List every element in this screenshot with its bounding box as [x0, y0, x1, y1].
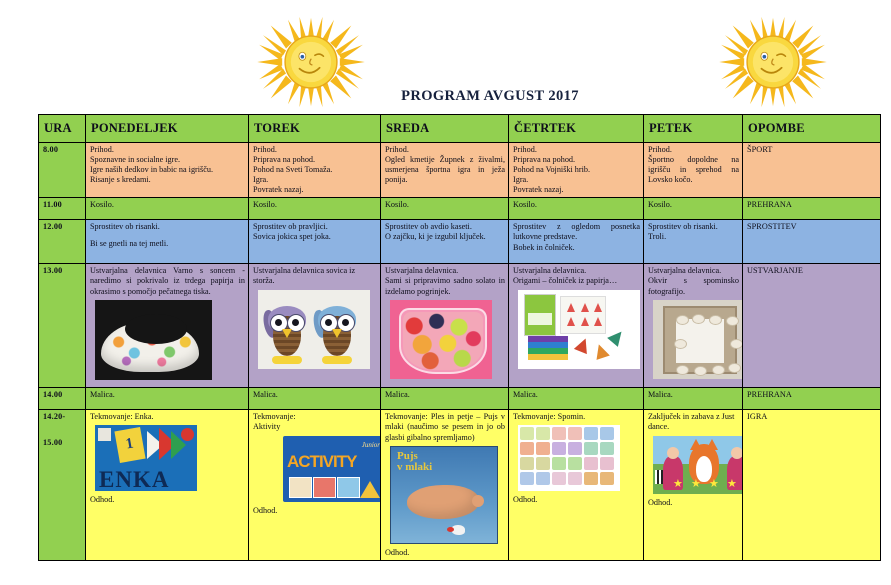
cell-line: Ustvarjalna delavnica.	[648, 266, 739, 276]
table-row: 14.00 Malica. Malica. Malica. Malica. Ma…	[39, 388, 881, 410]
cell-line: Priprava na pohod.	[513, 155, 640, 165]
cell-line: Ustvarjalna delavnica sovica iz storža.	[253, 266, 377, 286]
cell-friday: Prihod. Športno dopoldne na igrišču in s…	[644, 143, 743, 198]
row-hour-end: 15.00	[43, 438, 82, 448]
cell-spacer	[90, 232, 245, 239]
cell-line: Prihod.	[385, 145, 505, 155]
cell-friday: Kosilo.	[644, 198, 743, 220]
cell-thursday: Sprostitev z ogledom posnetka lutkovne p…	[509, 220, 644, 264]
cell-line: Bi se gnetli na tej metli.	[90, 239, 245, 249]
pujs-v-mlaki-book-photo: Pujsv mlaki	[390, 446, 498, 544]
cell-line: Origami – čolniček iz papirja…	[513, 276, 640, 286]
cell-monday: Kosilo.	[86, 198, 249, 220]
cell-friday: Sprostitev ob risanki. Troli.	[644, 220, 743, 264]
cell-wednesday: Sprostitev ob avdio kaseti. O zajčku, ki…	[381, 220, 509, 264]
cell-line: Risanje s kredami.	[90, 175, 245, 185]
col-header-ponedeljek: PONEDELJEK	[86, 115, 249, 143]
cell-line: Prihod.	[90, 145, 245, 155]
header-band: PROGRAM AVGUST 2017	[0, 0, 891, 113]
page-title: PROGRAM AVGUST 2017	[360, 88, 620, 105]
cell-line: Aktivity	[253, 422, 377, 432]
table-row: 12.00 Sprostitev ob risanki. Bi se gnetl…	[39, 220, 881, 264]
cell-line: Prihod.	[253, 145, 377, 155]
cell-tuesday: Sprostitev ob pravljici. Sovica jokica s…	[249, 220, 381, 264]
just-dance-photo: ★★★★	[653, 436, 743, 494]
cell-after-image-text: Odhod.	[648, 498, 739, 508]
col-header-opombe: OPOMBE	[743, 115, 881, 143]
cell-line: Sprostitev z ogledom posnetka lutkovne p…	[513, 222, 640, 242]
cell-monday: Prihod. Spoznavne in socialne igre. Igre…	[86, 143, 249, 198]
cell-line: Športno dopoldne na igrišču in sprehod n…	[648, 155, 739, 185]
cell-line: Povratek nazaj.	[513, 185, 640, 195]
col-header-petek: PETEK	[644, 115, 743, 143]
cell-thursday: Malica.	[509, 388, 644, 410]
cell-line: Bobek in čolniček.	[513, 243, 640, 253]
cell-tuesday: Ustvarjalna delavnica sovica iz storža.	[249, 264, 381, 388]
cell-wednesday: Tekmovanje: Ples in petje – Pujs v mlaki…	[381, 410, 509, 560]
cell-line: Tekmovanje: Spomin.	[513, 412, 640, 422]
cell-note: IGRA	[743, 410, 881, 560]
cell-line: Sprostitev ob avdio kaseti.	[385, 222, 505, 232]
cell-line: Priprava na pohod.	[253, 155, 377, 165]
shell-frame-photo	[653, 300, 743, 379]
cell-line: Zaključek in zabava z Just dance.	[648, 412, 739, 432]
cell-note: SPROSTITEV	[743, 220, 881, 264]
table-row: 8.00 Prihod. Spoznavne in socialne igre.…	[39, 143, 881, 198]
cell-after-image-text: Odhod.	[385, 548, 505, 558]
cell-line: Ustvarjalna delavnica Varno s soncem - n…	[90, 266, 245, 296]
table-row: 14.20- 15.00 Tekmovanje: Enka. ENKA Odho…	[39, 410, 881, 560]
cell-monday: Malica.	[86, 388, 249, 410]
cell-thursday: Prihod. Priprava na pohod. Pohod na Vojn…	[509, 143, 644, 198]
sun-smiley-icon	[252, 14, 370, 110]
cell-line: Igra.	[253, 175, 377, 185]
cell-line: Okvir s spominsko fotografijo.	[648, 276, 739, 296]
cell-line: Ustvarjalna delavnica.	[385, 266, 505, 276]
visor-craft-photo	[95, 300, 212, 380]
origami-kit-photo	[518, 290, 640, 369]
row-hour: 11.00	[39, 198, 86, 220]
cell-tuesday: Malica.	[249, 388, 381, 410]
row-hour: 8.00	[39, 143, 86, 198]
row-hour: 13.00	[39, 264, 86, 388]
cell-tuesday: Kosilo.	[249, 198, 381, 220]
col-header-torek: TOREK	[249, 115, 381, 143]
cell-line: Tekmovanje:	[253, 412, 377, 422]
cell-after-image-text: Odhod.	[90, 495, 245, 505]
pinecone-owls-photo	[258, 290, 370, 369]
cell-line: Prihod.	[648, 145, 739, 155]
cell-line: Sami si pripravimo sadno solato in izdel…	[385, 276, 505, 296]
table-row: 11.00 Kosilo. Kosilo. Kosilo. Kosilo. Ko…	[39, 198, 881, 220]
cell-friday: Ustvarjalna delavnica. Okvir s spominsko…	[644, 264, 743, 388]
cell-line: Sprostitev ob risanki.	[648, 222, 739, 232]
activity-game-box-photo: Junior ACTIVITY	[283, 436, 381, 502]
row-hour: 14.20- 15.00	[39, 410, 86, 560]
cell-line: Igra.	[513, 175, 640, 185]
program-poster: PROGRAM AVGUST 2017 URA PONEDELJEK TOREK…	[0, 0, 891, 585]
cell-line: Povratek nazaj.	[253, 185, 377, 195]
cell-note: ŠPORT	[743, 143, 881, 198]
cell-line: Sprostitev ob risanki.	[90, 222, 245, 232]
cell-line: Prihod.	[513, 145, 640, 155]
enka-game-box-photo: ENKA	[95, 425, 197, 491]
cell-note: PREHRANA	[743, 388, 881, 410]
fruit-salad-photo	[390, 300, 492, 379]
cell-line: Troli.	[648, 232, 739, 242]
cell-friday: Zaključek in zabava z Just dance. ★★★★ O…	[644, 410, 743, 560]
cell-after-image-text: Odhod.	[513, 495, 640, 505]
row-hour: 14.00	[39, 388, 86, 410]
cell-line: Pohod na Sveti Tomaža.	[253, 165, 377, 175]
row-hour: 12.00	[39, 220, 86, 264]
cell-line: Sprostitev ob pravljici.	[253, 222, 377, 232]
schedule-table: URA PONEDELJEK TOREK SREDA ČETRTEK PETEK…	[38, 114, 881, 561]
cell-monday: Ustvarjalna delavnica Varno s soncem - n…	[86, 264, 249, 388]
cell-line: Tekmovanje: Enka.	[90, 412, 245, 422]
cell-wednesday: Malica.	[381, 388, 509, 410]
cell-note: USTVARJANJE	[743, 264, 881, 388]
cell-monday: Sprostitev ob risanki. Bi se gnetli na t…	[86, 220, 249, 264]
cell-note: PREHRANA	[743, 198, 881, 220]
sun-smiley-icon	[714, 14, 832, 110]
cell-wednesday: Ustvarjalna delavnica. Sami si pripravim…	[381, 264, 509, 388]
cell-line: Spoznavne in socialne igre.	[90, 155, 245, 165]
cell-tuesday: Prihod. Priprava na pohod. Pohod na Svet…	[249, 143, 381, 198]
col-header-sreda: SREDA	[381, 115, 509, 143]
memory-game-photo	[518, 425, 620, 491]
cell-after-image-text: Odhod.	[253, 506, 377, 516]
cell-wednesday: Prihod. Ogled kmetije Župnek z živalmi, …	[381, 143, 509, 198]
cell-line: Ustvarjalna delavnica.	[513, 266, 640, 276]
col-header-ura: URA	[39, 115, 86, 143]
cell-line: Tekmovanje: Ples in petje – Pujs v mlaki…	[385, 412, 505, 442]
cell-monday: Tekmovanje: Enka. ENKA Odhod.	[86, 410, 249, 560]
cell-line: Ogled kmetije Župnek z živalmi, usmerjen…	[385, 155, 505, 185]
cell-thursday: Ustvarjalna delavnica. Origami – čolniče…	[509, 264, 644, 388]
cell-line: Igre naših dedkov in babic na igrišču.	[90, 165, 245, 175]
cell-thursday: Kosilo.	[509, 198, 644, 220]
cell-line: Pohod na Vojniški hrib.	[513, 165, 640, 175]
cell-friday: Malica.	[644, 388, 743, 410]
row-hour-start: 14.20-	[43, 412, 65, 421]
cell-line: O zajčku, ki je izgubil ključek.	[385, 232, 505, 242]
cell-wednesday: Kosilo.	[381, 198, 509, 220]
cell-tuesday: Tekmovanje: Aktivity Junior ACTIVITY Odh…	[249, 410, 381, 560]
cell-line: Sovica jokica spet joka.	[253, 232, 377, 242]
table-row: 13.00 Ustvarjalna delavnica Varno s sonc…	[39, 264, 881, 388]
col-header-cetrtek: ČETRTEK	[509, 115, 644, 143]
cell-thursday: Tekmovanje: Spomin. Odhod.	[509, 410, 644, 560]
table-header-row: URA PONEDELJEK TOREK SREDA ČETRTEK PETEK…	[39, 115, 881, 143]
